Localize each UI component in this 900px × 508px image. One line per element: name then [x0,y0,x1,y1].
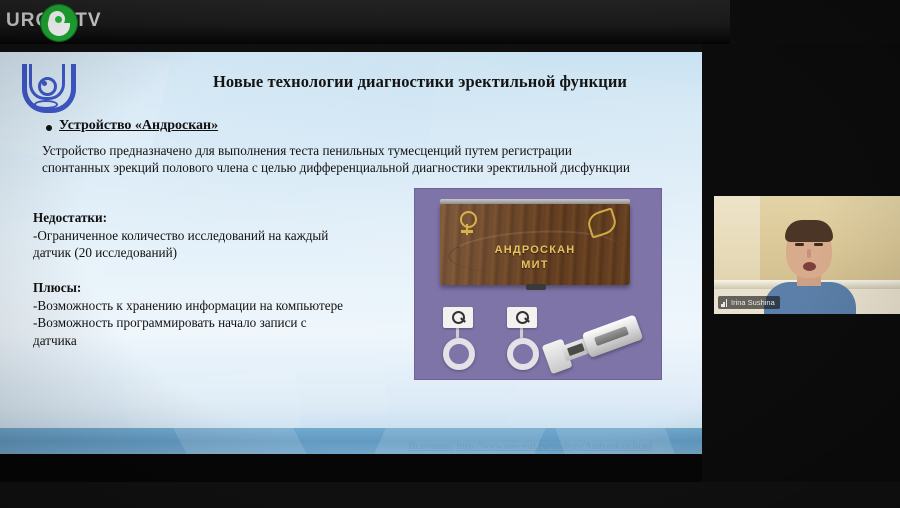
device-label: АНДРОСКАН МИТ [440,243,630,273]
speaker-eye-right [814,243,823,246]
urotv-leaf-logo-icon [40,4,78,42]
slide-footer-bar [0,428,702,454]
microphone-level-icon [721,299,728,307]
case-latch [526,284,546,290]
urology-u-emblem-icon [18,62,70,118]
outer-letterbox [0,482,900,508]
manufacturer-emblem-icon [585,207,619,238]
device-label-line2: МИТ [521,259,548,271]
slide-bullet: Устройство «Андроскан» [46,118,218,134]
wooden-case: АНДРОСКАН МИТ [440,203,630,285]
cons-block: Недостатки: -Ограниченное количество исс… [33,209,403,262]
bullet-label: Устройство «Андроскан» [59,118,218,134]
slide-title: Новые технологии диагностики эректильной… [150,72,690,92]
speaker-nose [807,249,811,258]
urotv-logo-lockup: URO TV [6,4,102,38]
brand-tv-text: TV [75,10,101,32]
venus-symbol-icon [460,211,476,237]
case-lid [440,199,630,204]
cons-line: датчик (20 исследований) [33,244,403,262]
participant-name: Irina Sushina [731,298,775,307]
screen-capture: URO TV Новые технологии диагностики эрек… [0,0,900,508]
device-photo: АНДРОСКАН МИТ [414,188,662,380]
speaker-mouth [803,262,816,271]
pros-line: датчика [33,332,403,350]
pros-line: -Возможность программировать начало запи… [33,314,403,332]
top-right-filler [730,0,900,44]
pros-heading: Плюсы: [33,279,403,297]
urotv-branding-bar: URO TV [0,0,730,44]
slide-paragraph: Устройство предназначено для выполнения … [42,142,642,177]
cons-line: -Ограниченное количество исследований на… [33,227,403,245]
speaker-eye-left [795,243,804,246]
participant-name-badge: Irina Sushina [718,296,780,309]
sensor-ring-icon [507,307,541,370]
device-label-line1: АНДРОСКАН [495,244,576,256]
sensor-ring-icon [443,307,477,370]
pros-line: -Возможность к хранению информации на ко… [33,297,403,315]
presentation-slide: Новые технологии диагностики эректильной… [0,52,702,454]
usb-flash-drive-icon [559,313,648,378]
bullet-dot-icon [46,125,52,131]
speaker-hair [785,220,833,242]
cons-heading: Недостатки: [33,209,403,227]
webcam-tile[interactable]: Irina Sushina [714,196,900,314]
pros-block: Плюсы: -Возможность к хранению информаци… [33,279,403,349]
